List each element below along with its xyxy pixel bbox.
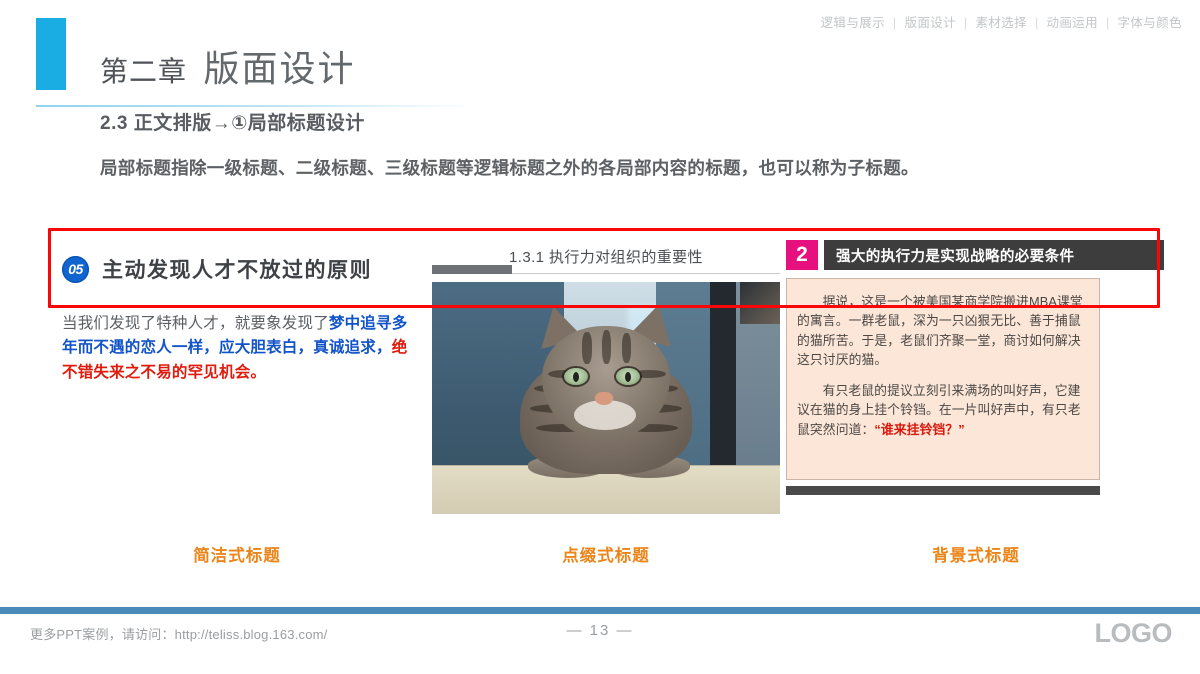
slide-header: 第二章 版面设计 — [0, 18, 1200, 90]
page-number: — 13 — — [0, 622, 1200, 639]
example-column-background: 2 强大的执行力是实现战略的必要条件 据说，这是一个被美国某商学院搬进MBA课堂… — [786, 240, 1164, 495]
logo: LOGO — [1095, 618, 1173, 649]
photo-bg-frame — [740, 282, 780, 324]
simple-body-text: 当我们发现了特种人才，就要象发现了梦中追寻多年而不遇的恋人一样，应大胆表白，真诚… — [62, 312, 412, 385]
panel-paragraph-1: 据说，这是一个被美国某商学院搬进MBA课堂的寓言。一群老鼠，深为一只凶狠无比、善… — [797, 292, 1089, 370]
chapter-label: 第二章 — [100, 56, 187, 87]
caption-simple: 简洁式标题 — [62, 542, 412, 566]
background-text-panel: 据说，这是一个被美国某商学院搬进MBA课堂的寓言。一群老鼠，深为一只凶狠无比、善… — [786, 278, 1100, 480]
background-title-row: 2 强大的执行力是实现战略的必要条件 — [786, 240, 1164, 270]
example-column-decorated: 1.3.1 执行力对组织的重要性 — [432, 240, 780, 514]
number-badge-05: 05 — [62, 256, 89, 283]
number-badge-2: 2 — [786, 240, 818, 270]
example-column-simple: 05 主动发现人才不放过的原则 当我们发现了特种人才，就要象发现了梦中追寻多年而… — [62, 240, 412, 385]
simple-title-text: 主动发现人才不放过的原则 — [102, 254, 372, 284]
header-title-group: 第二章 版面设计 — [100, 40, 355, 92]
cat-eye-right — [616, 368, 640, 385]
decorated-title-row: 1.3.1 执行力对组织的重要性 — [432, 240, 780, 282]
decorated-title-text: 1.3.1 执行力对组织的重要性 — [432, 246, 780, 267]
header-underline — [36, 105, 476, 107]
cat-photo — [432, 282, 780, 514]
caption-background: 背景式标题 — [786, 542, 1166, 566]
header-accent-bar — [36, 18, 66, 90]
simple-title-row: 05 主动发现人才不放过的原则 — [62, 240, 412, 298]
panel-paragraph-2: 有只老鼠的提议立刻引来满场的叫好声，它建议在猫的身上挂个铃铛。在一片叫好声中，有… — [797, 381, 1089, 439]
section-description: 局部标题指除一级标题、二级标题、三级标题等逻辑标题之外的各局部内容的标题，也可以… — [100, 155, 919, 180]
footer-bar — [0, 607, 1200, 614]
panel-under-bar — [786, 486, 1100, 495]
panel-quote: “谁来挂铃铛？” — [874, 422, 964, 437]
page-title: 版面设计 — [203, 48, 355, 89]
cat-eye-left — [564, 368, 588, 385]
body-segment-gray: 当我们发现了特种人才，就要象发现了 — [62, 315, 329, 332]
background-title-text: 强大的执行力是实现战略的必要条件 — [824, 240, 1164, 270]
cat-nose — [595, 392, 613, 405]
section-heading: 2.3 正文排版→①局部标题设计 — [100, 108, 365, 135]
caption-decorated: 点缀式标题 — [432, 542, 780, 566]
